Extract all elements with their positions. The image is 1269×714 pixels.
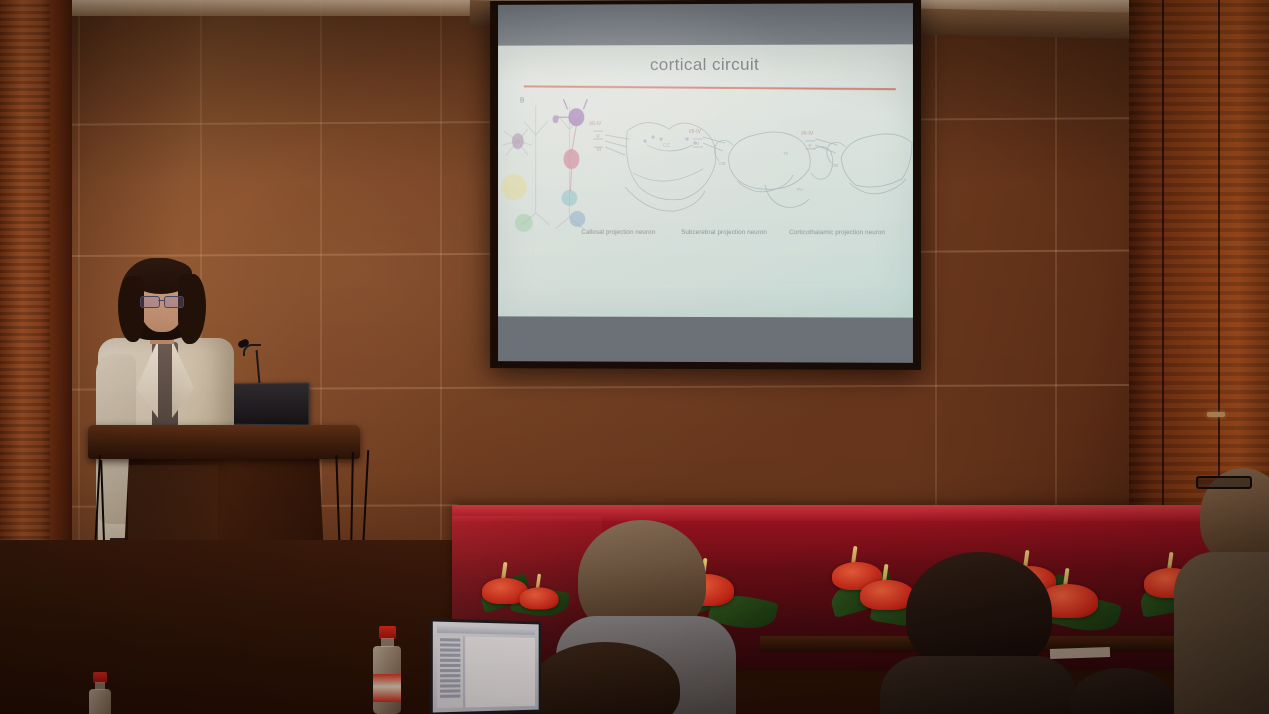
podium-top: [88, 425, 360, 459]
slide-title: cortical circuit: [498, 54, 913, 75]
svg-text:I/II-IV: I/II-IV: [589, 121, 602, 127]
water-bottle[interactable]: [372, 626, 402, 714]
speaker-hair-right: [178, 274, 206, 344]
caption-corticothalamic: Corticothalamic projection neuron: [789, 229, 885, 236]
anthurium-flower: [519, 581, 558, 610]
laptop-titlebar: [437, 626, 535, 635]
cortical-circuit-diagram: I/II-IV V VI CC: [498, 95, 913, 236]
svg-text:V: V: [696, 141, 700, 146]
door-handle[interactable]: [1207, 412, 1225, 417]
projection-screen: cortical circuit B: [490, 0, 921, 370]
svg-text:Th: Th: [783, 151, 789, 156]
caption-subcerebral: Subcerebral projection neuron: [681, 229, 767, 236]
right-wood-wall: [1129, 0, 1269, 520]
microphone-arm: [243, 344, 261, 356]
svg-text:OB: OB: [719, 161, 726, 166]
svg-text:OB: OB: [831, 163, 838, 168]
svg-text:CC: CC: [663, 143, 671, 149]
svg-text:V: V: [808, 143, 812, 148]
door-edge: [1218, 0, 1220, 520]
eyeglasses-icon: [140, 296, 186, 306]
screen-surface: cortical circuit B: [498, 3, 913, 363]
screen-top-band: [498, 3, 913, 47]
slide-title-underline: [524, 85, 896, 90]
speaker-hair-left: [118, 276, 144, 342]
water-bottle[interactable]: [88, 672, 112, 714]
audience-member: [1070, 668, 1190, 714]
svg-text:Po: Po: [797, 187, 803, 192]
presentation-photo: cortical circuit B: [0, 0, 1269, 714]
laptop-content-pane: [465, 637, 535, 708]
audience-member: [1190, 468, 1269, 714]
slide-captions: Callosal projection neuron Subcerebral p…: [498, 229, 913, 236]
screen-bottom-band: [498, 316, 913, 362]
svg-text:I/II-IV: I/II-IV: [801, 131, 814, 137]
svg-text:I/II-IV: I/II-IV: [689, 129, 702, 135]
presentation-slide: cortical circuit B: [498, 44, 913, 317]
audience-member: [880, 552, 1076, 714]
caption-callosal: Callosal projection neuron: [581, 229, 655, 236]
audience-laptop[interactable]: [430, 618, 542, 714]
svg-text:VI: VI: [596, 147, 601, 153]
laptop-sidebar: [437, 636, 464, 708]
door-edge: [1162, 0, 1164, 520]
audience-glasses: [1196, 472, 1254, 488]
